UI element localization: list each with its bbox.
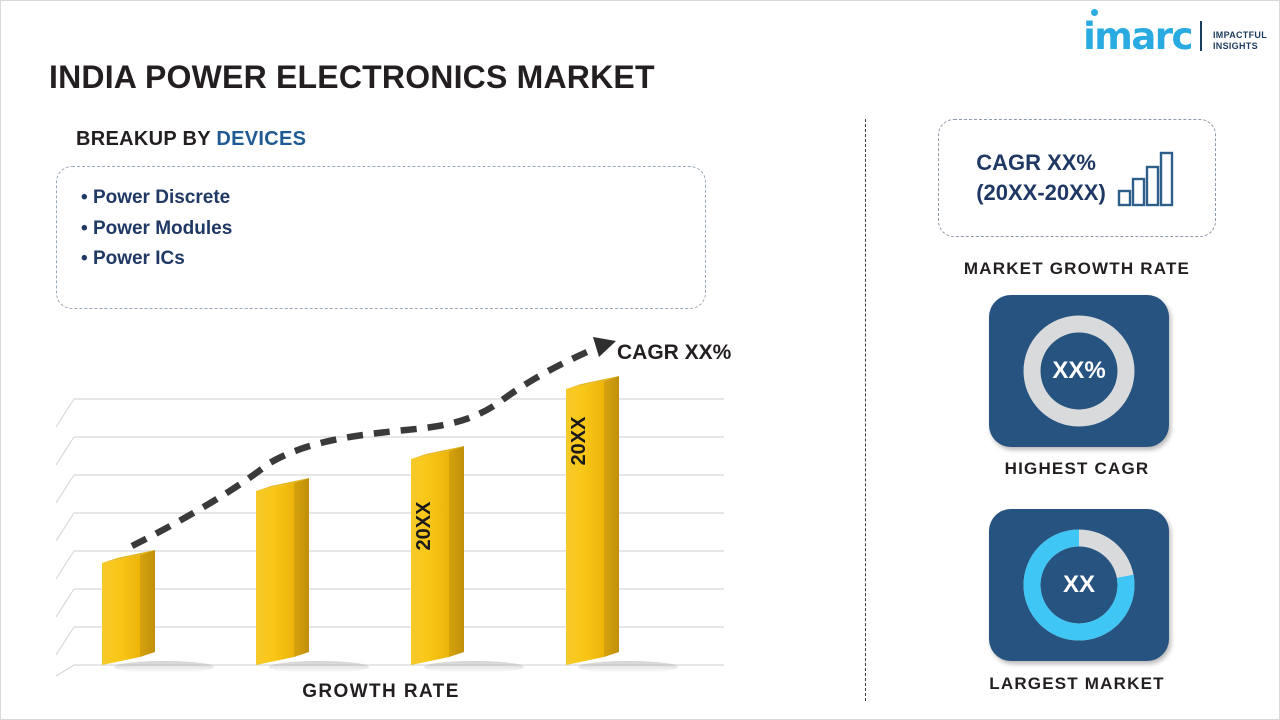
bar-label-3: 20XX bbox=[413, 501, 435, 551]
market-growth-rate-card: CAGR XX% (20XX-20XX) bbox=[938, 119, 1216, 237]
highest-cagr-label: HIGHEST CAGR bbox=[881, 459, 1273, 479]
cagr-period: (20XX-20XX) bbox=[976, 178, 1106, 208]
vertical-divider bbox=[865, 119, 866, 701]
devices-panel: Power Discrete Power Modules Power ICs bbox=[56, 166, 706, 309]
logo-tagline-line2: INSIGHTS bbox=[1213, 41, 1267, 51]
list-item: Power ICs bbox=[81, 244, 681, 275]
cagr-text-block: CAGR XX% (20XX-20XX) bbox=[976, 148, 1106, 208]
bar-chart-svg: 20XX 20XX bbox=[56, 331, 756, 676]
logo-tagline: IMPACTFUL INSIGHTS bbox=[1213, 30, 1267, 51]
largest-market-label: LARGEST MARKET bbox=[881, 674, 1273, 694]
bar-chart-icon bbox=[1116, 147, 1178, 209]
infographic-page: imarc IMPACTFUL INSIGHTS INDIA POWER ELE… bbox=[0, 0, 1280, 720]
largest-market-donut: XX bbox=[1017, 523, 1141, 647]
largest-market-value: XX bbox=[1017, 523, 1141, 647]
growth-bar-chart: 20XX 20XX bbox=[56, 331, 756, 676]
largest-market-card: XX bbox=[989, 509, 1169, 661]
logo-word-text: imarc bbox=[1083, 15, 1192, 58]
breakup-heading: BREAKUP BY DEVICES bbox=[76, 128, 306, 151]
bar-2 bbox=[256, 478, 309, 665]
chart-cagr-callout: CAGR XX% bbox=[617, 341, 731, 365]
breakup-prefix: BREAKUP BY bbox=[76, 128, 216, 150]
logo-wordmark: imarc bbox=[1083, 18, 1192, 55]
highest-cagr-donut: XX% bbox=[1017, 309, 1141, 433]
bar-3 bbox=[411, 446, 464, 665]
bar-shadows bbox=[114, 661, 678, 673]
chart-depth-ticks bbox=[56, 399, 74, 676]
bar-1 bbox=[102, 550, 155, 665]
market-growth-rate-label: MARKET GROWTH RATE bbox=[881, 259, 1273, 279]
logo-tagline-line1: IMPACTFUL bbox=[1213, 30, 1267, 40]
imarc-logo: imarc IMPACTFUL INSIGHTS bbox=[1083, 9, 1267, 55]
breakup-accent: DEVICES bbox=[216, 128, 306, 150]
cagr-value: CAGR XX% bbox=[976, 148, 1106, 178]
list-item: Power Discrete bbox=[81, 183, 681, 214]
logo-divider bbox=[1200, 21, 1202, 51]
highest-cagr-card: XX% bbox=[989, 295, 1169, 447]
page-title: INDIA POWER ELECTRONICS MARKET bbox=[49, 59, 655, 96]
chart-axis-label: GROWTH RATE bbox=[1, 681, 761, 703]
metrics-column: CAGR XX% (20XX-20XX) MARKET GROWTH RATE … bbox=[881, 111, 1273, 711]
list-item: Power Modules bbox=[81, 214, 681, 245]
trend-arrow bbox=[132, 337, 616, 546]
bar-label-4: 20XX bbox=[568, 416, 590, 466]
devices-list: Power Discrete Power Modules Power ICs bbox=[81, 183, 681, 275]
chart-gridlines bbox=[74, 399, 724, 665]
highest-cagr-value: XX% bbox=[1017, 309, 1141, 433]
